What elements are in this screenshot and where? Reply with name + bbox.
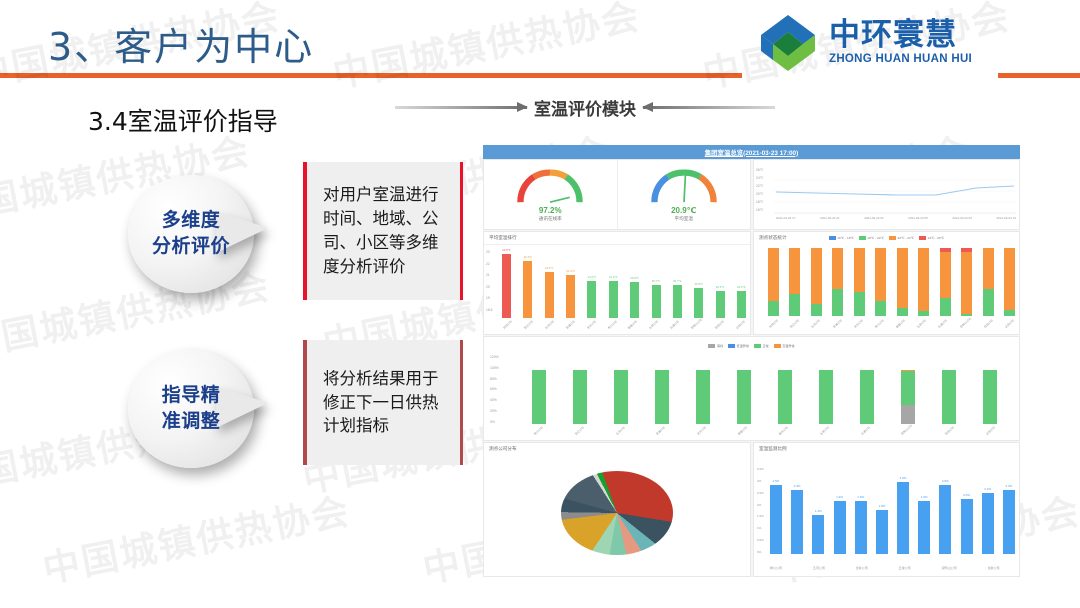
axis-tick: 桦川公司	[874, 319, 885, 329]
axis-tick: 五通公司	[860, 426, 871, 436]
axis-tick: 龙井公司	[853, 319, 864, 329]
axis-tick: 2021-03-23 05	[908, 216, 928, 220]
bar-value-label: 1.6%	[878, 504, 885, 508]
axis-tick: 2021-03-23 09	[952, 216, 972, 220]
stacked-segment	[768, 248, 779, 301]
chart-bar	[532, 359, 546, 424]
axis-tick: 16℃	[756, 208, 763, 212]
stacked-segment	[961, 314, 972, 316]
chart-bar	[942, 359, 956, 424]
gauge-arc-icon	[648, 167, 720, 205]
dashboard-screenshot: 集团室温总览(2021-03-23 17:00) 97.2% 通讯在线率	[483, 145, 1020, 577]
callout-line1: 多维度	[162, 210, 221, 232]
callout-precise-adjust: 指导精 准调整	[128, 350, 276, 468]
stacked-bar	[961, 248, 972, 316]
bar-segment	[532, 370, 546, 424]
stacked-segment	[897, 308, 908, 316]
chart-bar: 2.5%	[770, 485, 782, 554]
stacked-segment	[854, 292, 865, 316]
chart-bar: 20.5℃	[694, 288, 703, 318]
legend-swatch	[889, 236, 896, 239]
legend-item: 正常	[754, 343, 769, 348]
stacked-segment	[940, 298, 951, 316]
legend-label: 18℃ - 20℃	[867, 236, 884, 240]
chart-bar	[819, 359, 833, 424]
legend-swatch	[754, 344, 761, 347]
bar-value-label: 1.9%	[921, 495, 928, 499]
bar-segment	[819, 370, 833, 424]
legend-label: 高温异常	[782, 344, 794, 348]
callout-text: 指导精 准调整	[128, 350, 254, 468]
axis-tick: 3.5%	[757, 467, 764, 471]
rank-chart-bars: 22.8℃22.3℃21.6℃21.4℃21.0℃21.0℃20.9℃20.7℃…	[502, 248, 746, 318]
chart-bar: 22.3℃	[523, 261, 532, 318]
stacked-segment	[768, 301, 779, 316]
monitor-chart-title: 室温监测比例	[754, 443, 1019, 455]
axis-tick: 龙井公司	[696, 426, 707, 436]
stacked-bar	[897, 248, 908, 316]
stacked-segment	[1004, 310, 1015, 316]
rank-chart-x-labels: 沈阳公司双辽公司五河公司宣城公司龙井公司桦川公司蕲春公司五常公司五通公司双鸭山公…	[502, 327, 746, 331]
axis-tick: 五常公司	[899, 566, 911, 570]
stacked-segment	[789, 248, 800, 294]
bar-value-label: 1.9%	[836, 495, 843, 499]
distribution-legend: 离线低温异常正常高温异常	[484, 340, 1019, 348]
gauge-avg-temp: 20.9℃ 平均室温	[617, 160, 751, 229]
bar-value-label: 22.3℃	[524, 255, 533, 259]
axis-tick: 五河公司	[810, 319, 821, 329]
header-rule-left	[0, 73, 742, 78]
chart-bar: 21.4℃	[566, 275, 575, 318]
axis-tick: 2%	[757, 503, 764, 507]
monitor-y-axis: 3.5%3%2.5%2%1.5%1%0.5%0%	[757, 467, 764, 554]
description-box-1: 对用户室温进行时间、地域、公司、小区等多维度分析评价	[303, 162, 463, 300]
brand-logo: 中环寰慧 ZHONG HUAN HUAN HUI	[757, 12, 972, 74]
stacked-bar	[789, 248, 800, 316]
axis-tick: 21	[486, 273, 492, 277]
bar-value-label: 21.0℃	[609, 275, 618, 279]
axis-tick: 60%	[490, 387, 499, 391]
stacked-segment	[983, 289, 994, 316]
axis-tick: 2.5%	[757, 491, 764, 495]
chart-bar	[696, 359, 710, 424]
pie-chart-wrap	[484, 453, 750, 572]
axis-tick: 宣城公司	[832, 319, 843, 329]
axis-tick: 双辽公司	[523, 320, 534, 330]
bar-value-label: 2.0%	[963, 493, 970, 497]
legend-item: 16℃ - 18℃	[829, 236, 854, 240]
bar-value-label: 20.7℃	[673, 279, 682, 283]
axis-tick: 2021-03-23 17	[776, 216, 796, 220]
banner-arrow-left-icon	[395, 106, 527, 109]
bar-segment	[778, 370, 792, 424]
gauge-arc-icon	[514, 167, 586, 205]
axis-tick: 正阳公司	[1004, 319, 1015, 329]
bar-value-label: 21.4℃	[566, 269, 575, 273]
chart-bar: 2.3%	[791, 490, 803, 554]
bar-segment	[696, 370, 710, 424]
bar-value-label: 1.4%	[815, 509, 822, 513]
bar-value-label: 2.3%	[794, 484, 801, 488]
legend-label: 正常	[763, 344, 769, 348]
axis-tick: 26℃	[756, 168, 763, 172]
stacked-bar	[1004, 248, 1015, 316]
axis-tick: 2021-03-23 13	[996, 216, 1016, 220]
bar-segment	[614, 370, 628, 424]
legend-item: 24℃ - 26℃	[919, 236, 944, 240]
bar-segment	[573, 370, 587, 424]
bar-segment	[860, 370, 874, 424]
chart-bar: 20.9℃	[630, 282, 639, 318]
axis-tick: 20%	[490, 409, 499, 413]
axis-tick: 桦川公司	[607, 320, 618, 330]
chart-bar	[737, 359, 751, 424]
axis-tick: 五河公司	[615, 426, 626, 436]
bar-value-label: 21.6℃	[545, 266, 554, 270]
module-banner: 室温评价模块	[395, 92, 775, 122]
distribution-x-labels: 桦川公司双辽公司五河公司宣城公司龙井公司蕲春公司蕲州公司五常公司五通公司双鸭山公…	[518, 433, 1011, 437]
stacked-segment	[854, 248, 865, 292]
stacked-chart-x-labels: 沈阳公司双辽公司五河公司宣城公司龙井公司桦川公司蕲春公司五常公司五通公司双鸭山公…	[768, 326, 1015, 330]
legend-label: 20℃ - 24℃	[898, 236, 915, 240]
callout-line2: 分析评价	[152, 236, 230, 258]
legend-item: 20℃ - 24℃	[889, 236, 914, 240]
bar-value-label: 2.5%	[773, 479, 780, 483]
banner-arrow-right-icon	[643, 106, 775, 109]
stacked-bar	[983, 248, 994, 316]
axis-tick: 龙井公司	[856, 566, 868, 570]
chart-bar	[655, 359, 669, 424]
stacked-chart-legend: 16℃ - 18℃18℃ - 20℃20℃ - 24℃24℃ - 26℃	[754, 233, 1019, 240]
axis-tick: 80%	[490, 377, 499, 381]
stacked-segment	[918, 311, 929, 316]
axis-tick: 双鸭山公司	[690, 318, 703, 330]
axis-tick: 40%	[490, 398, 499, 402]
stacked-bar	[768, 248, 779, 316]
axis-tick: 22℃	[756, 184, 763, 188]
stacked-segment	[897, 248, 908, 308]
gauge-label: 通讯在线率	[539, 216, 562, 222]
axis-tick: 0%	[490, 420, 499, 424]
chart-bar: 1.9%	[855, 501, 867, 554]
chart-bar: 20.3℃	[716, 291, 725, 318]
stacked-segment	[961, 252, 972, 314]
pie-chart	[561, 471, 673, 555]
bar-value-label: 2.3%	[1005, 484, 1012, 488]
bar-segment	[737, 370, 751, 424]
axis-tick: 龙井公司	[586, 320, 597, 330]
chart-bar: 1.9%	[918, 501, 930, 554]
stacked-segment	[789, 294, 800, 316]
line-chart-panel: 26℃24℃22℃20℃18℃16℃ 2021-03-23 172021-03-…	[753, 159, 1020, 230]
axis-tick: 宣城公司	[565, 320, 576, 330]
chart-bar	[983, 359, 997, 424]
chart-bar	[860, 359, 874, 424]
module-banner-label: 室温评价模块	[527, 95, 643, 120]
line-chart-svg	[774, 168, 1016, 214]
section-subtitle: 3.4室温评价指导	[88, 102, 278, 138]
bar-segment	[983, 370, 997, 424]
axis-tick: 五常公司	[648, 320, 659, 330]
chart-bar: 2.0%	[961, 499, 973, 554]
bar-value-label: 22.8℃	[502, 248, 511, 252]
axis-tick: 19	[486, 296, 492, 300]
stacked-segment	[1004, 248, 1015, 310]
bar-value-label: 20.5℃	[694, 282, 703, 286]
axis-tick: 双辽公司	[574, 426, 585, 436]
pie-chart-panel: 测点公司分布	[483, 442, 751, 577]
chart-bar: 21.6℃	[545, 272, 554, 318]
axis-tick: 五通公司	[669, 320, 680, 330]
chart-bar	[778, 359, 792, 424]
callout-multi-dimension: 多维度 分析评价	[128, 175, 276, 293]
monitor-x-labels: 桦川公司五河公司龙井公司五常公司双鸭山公司龙新公司	[770, 566, 1015, 570]
chart-bar: 2.3%	[1003, 490, 1015, 554]
bar-value-label: 20.9℃	[630, 276, 639, 280]
legend-item: 低温异常	[728, 343, 749, 348]
description-text-2: 将分析结果用于修正下一日供热计划指标	[323, 367, 444, 439]
axis-tick: 五常公司	[916, 319, 927, 329]
logo-mark-icon	[757, 12, 819, 74]
axis-tick: 五河公司	[544, 320, 555, 330]
stacked-segment	[983, 248, 994, 289]
stacked-bar	[918, 248, 929, 316]
chart-bar: 1.4%	[812, 515, 824, 554]
gauge-label: 平均室温	[675, 216, 693, 222]
stacked-segment	[811, 248, 822, 304]
chart-bar	[901, 359, 915, 424]
bar-value-label: 2.5%	[942, 479, 949, 483]
chart-bar: 21.0℃	[587, 281, 596, 318]
callout-line2: 准调整	[162, 411, 221, 433]
watermark-text: 中国城镇供热协会	[38, 481, 355, 594]
gauge-panel: 97.2% 通讯在线率 20.9℃ 平均室温	[483, 159, 751, 230]
chart-bar	[614, 359, 628, 424]
logo-title-cn: 中环寰慧	[829, 20, 972, 51]
logo-title-en: ZHONG HUAN HUAN HUI	[829, 54, 972, 66]
axis-tick: 双阳公司	[983, 319, 994, 329]
gauge-value: 97.2%	[539, 206, 562, 215]
rank-chart-panel: 平均室温排行 232221201918.5 22.8℃22.3℃21.6℃21.…	[483, 231, 751, 335]
chart-bar: 20.3℃	[737, 291, 746, 318]
axis-tick: 22	[486, 262, 492, 266]
monitor-chart-panel: 室温监测比例 3.5%3%2.5%2%1.5%1%0.5%0% 2.5%2.3%…	[753, 442, 1020, 577]
axis-tick: 沈阳公司	[502, 320, 513, 330]
chart-bar: 20.7℃	[673, 285, 682, 318]
axis-tick: 1%	[757, 526, 764, 530]
distribution-y-axis: 120%100%80%60%40%20%0%	[490, 355, 499, 424]
axis-tick: 1.5%	[757, 514, 764, 518]
stacked-bar	[940, 248, 951, 316]
stacked-bar	[875, 248, 886, 316]
stacked-segment	[832, 289, 843, 316]
line-chart-y-axis: 26℃24℃22℃20℃18℃16℃	[756, 168, 763, 212]
legend-item: 离线	[708, 343, 723, 348]
legend-label: 低温异常	[737, 344, 749, 348]
legend-swatch	[728, 344, 735, 347]
axis-tick: 0.5%	[757, 538, 764, 542]
axis-tick: 蕲春公司	[737, 426, 748, 436]
legend-label: 离线	[717, 344, 723, 348]
bar-segment	[942, 370, 956, 424]
axis-tick: 双鸭山公司	[959, 317, 972, 329]
bar-value-label: 20.7℃	[652, 279, 661, 283]
axis-tick: 2021-03-23 21	[820, 216, 840, 220]
axis-tick: 双辽公司	[789, 319, 800, 329]
legend-swatch	[829, 236, 836, 239]
chart-bar	[573, 359, 587, 424]
watermark-text: 中国城镇供热协会	[328, 0, 645, 98]
axis-tick: 五常公司	[819, 426, 830, 436]
bar-value-label: 20.3℃	[716, 285, 725, 289]
monitor-bars: 2.5%2.3%1.4%1.9%1.9%1.6%2.6%1.9%2.5%2.0%…	[770, 471, 1015, 554]
axis-tick: 龙新公司	[987, 566, 999, 570]
axis-tick: 100%	[490, 366, 499, 370]
stacked-bar	[811, 248, 822, 316]
axis-tick: 正阳公司	[985, 426, 996, 436]
axis-tick: 蕲春公司	[895, 319, 906, 329]
axis-tick: 桦川公司	[533, 426, 544, 436]
axis-tick: 20	[486, 285, 492, 289]
callout-line1: 指导精	[162, 385, 221, 407]
gauge-value: 20.9℃	[671, 206, 696, 215]
bar-segment	[655, 370, 669, 424]
distribution-chart-panel: 离线低温异常正常高温异常 120%100%80%60%40%20%0% 桦川公司…	[483, 336, 1020, 441]
bar-value-label: 21.0℃	[588, 275, 597, 279]
axis-tick: 双阳公司	[944, 426, 955, 436]
axis-tick: 20℃	[756, 192, 763, 196]
axis-tick: 双阳公司	[714, 320, 725, 330]
rank-chart-y-axis: 232221201918.5	[486, 250, 492, 312]
chart-bar: 22.8℃	[502, 254, 511, 318]
axis-tick: 五通公司	[937, 319, 948, 329]
axis-tick: 蕲州公司	[778, 426, 789, 436]
axis-tick: 沈阳公司	[768, 319, 779, 329]
callout-text: 多维度 分析评价	[128, 175, 254, 293]
bar-value-label: 2.6%	[900, 476, 907, 480]
chart-bar: 1.9%	[834, 501, 846, 554]
chart-bar: 21.0℃	[609, 281, 618, 318]
chart-bar: 2.5%	[939, 485, 951, 554]
bar-value-label: 1.9%	[857, 495, 864, 499]
legend-swatch	[708, 344, 715, 347]
chart-bar: 2.6%	[897, 482, 909, 554]
description-box-2: 将分析结果用于修正下一日供热计划指标	[303, 340, 463, 465]
stacked-chart-panel: 测点状态统计 16℃ - 18℃18℃ - 20℃20℃ - 24℃24℃ - …	[753, 231, 1020, 335]
axis-tick: 桦川公司	[770, 566, 782, 570]
axis-tick: 24℃	[756, 176, 763, 180]
axis-tick: 18℃	[756, 200, 763, 204]
dashboard-title-bar: 集团室温总览(2021-03-23 17:00)	[483, 145, 1020, 159]
page-title: 3、客户为中心	[48, 16, 314, 71]
legend-swatch	[919, 236, 926, 239]
stacked-segment	[875, 248, 886, 301]
distribution-bars	[518, 359, 1011, 424]
chart-bar: 2.2%	[982, 493, 994, 554]
axis-tick: 18.5	[486, 308, 492, 312]
line-chart-x-axis: 2021-03-23 172021-03-23 212021-03-23 012…	[776, 216, 1016, 220]
axis-tick: 宣城公司	[655, 426, 666, 436]
header-rule-right	[998, 73, 1080, 78]
stacked-segment	[918, 248, 929, 311]
axis-tick: 120%	[490, 355, 499, 359]
bar-value-label: 20.3℃	[737, 285, 746, 289]
axis-tick: 双鸭山公司	[900, 424, 913, 436]
stacked-segment	[940, 252, 951, 298]
description-text-1: 对用户室温进行时间、地域、公司、小区等多维度分析评价	[323, 183, 444, 279]
axis-tick: 23	[486, 250, 492, 254]
axis-tick: 2021-03-23 01	[864, 216, 884, 220]
bar-value-label: 2.2%	[984, 487, 991, 491]
stacked-bar	[854, 248, 865, 316]
legend-swatch	[859, 236, 866, 239]
legend-item: 高温异常	[774, 343, 795, 348]
axis-tick: 蕲春公司	[627, 320, 638, 330]
legend-label: 24℃ - 26℃	[928, 236, 945, 240]
bar-segment	[901, 371, 915, 405]
rank-chart-title: 平均室温排行	[484, 232, 750, 245]
stacked-segment	[875, 301, 886, 316]
legend-label: 16℃ - 18℃	[837, 236, 854, 240]
chart-bar: 1.6%	[876, 510, 888, 554]
axis-tick: 五河公司	[813, 566, 825, 570]
stacked-chart-bars	[768, 248, 1015, 316]
chart-bar: 20.7℃	[652, 285, 661, 318]
bar-segment	[901, 405, 915, 425]
stacked-segment	[832, 248, 843, 289]
axis-tick: 正阳公司	[735, 320, 746, 330]
gauge-online-rate: 97.2% 通讯在线率	[484, 160, 617, 229]
legend-item: 18℃ - 20℃	[859, 236, 884, 240]
axis-tick: 双鸭山公司	[942, 566, 957, 570]
stacked-bar	[832, 248, 843, 316]
stacked-segment	[811, 304, 822, 316]
axis-tick: 3%	[757, 479, 764, 483]
axis-tick: 0%	[757, 550, 764, 554]
legend-swatch	[774, 344, 781, 347]
